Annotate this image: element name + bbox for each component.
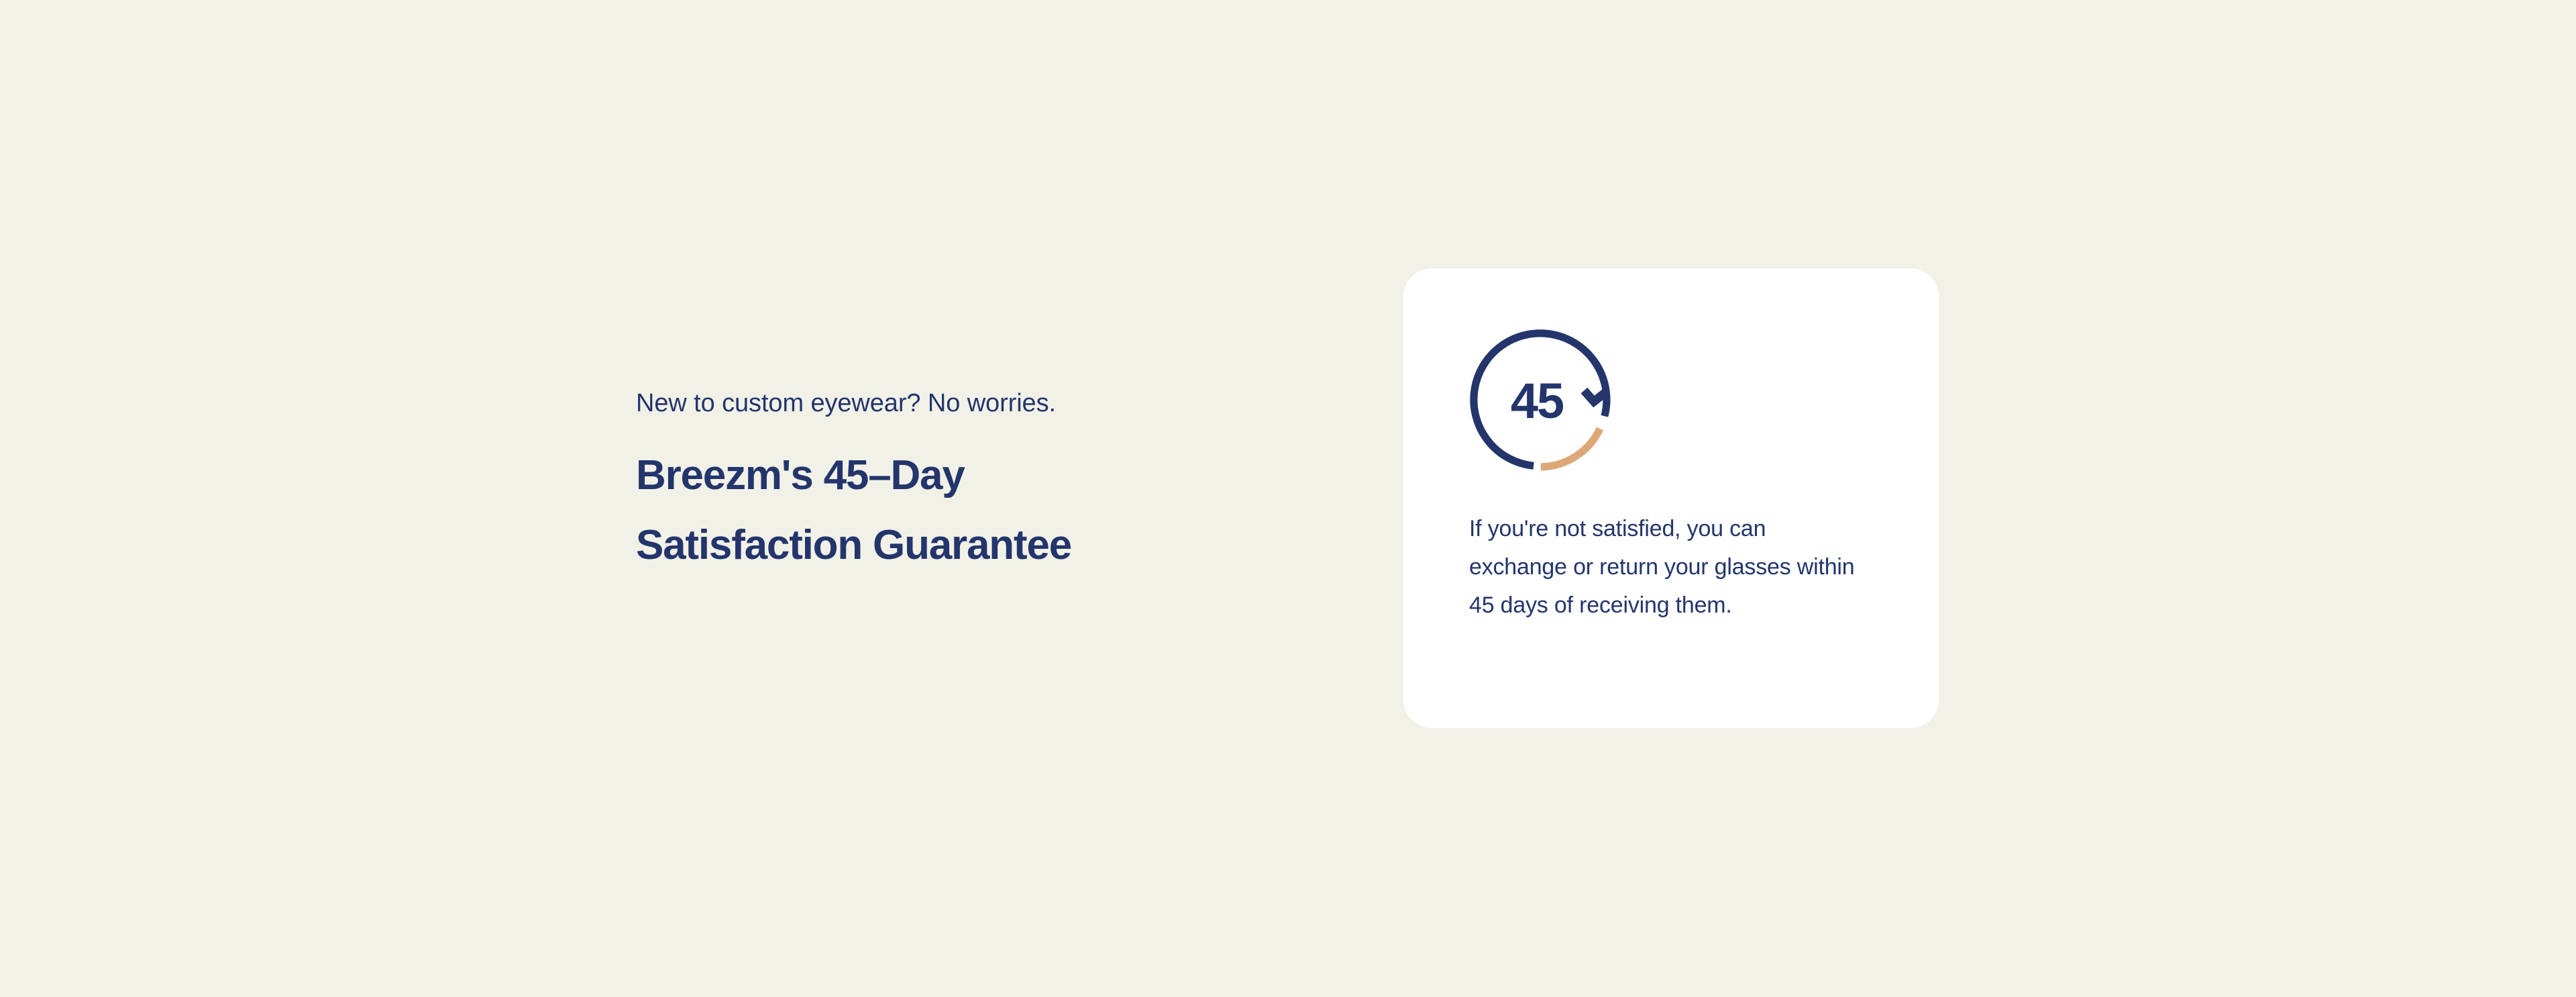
promo-banner: New to custom eyewear? No worries. Breez… — [0, 0, 2576, 997]
badge-number: 45 — [1511, 373, 1564, 429]
45-day-return-cycle-icon: 45 — [1467, 323, 1621, 478]
promo-eyebrow: New to custom eyewear? No worries. — [636, 386, 1307, 421]
page-title: Breezm's 45–Day Satisfaction Guarantee — [636, 441, 1307, 580]
guarantee-description: If you're not satisfied, you can exchang… — [1469, 510, 1858, 625]
guarantee-card: 45 If you're not satisfied, you can exch… — [1403, 268, 1939, 728]
page-title-line-2: Satisfaction Guarantee — [636, 511, 1307, 580]
page-title-line-1: Breezm's 45–Day — [636, 441, 1307, 511]
45-day-return-cycle-svg: 45 — [1467, 323, 1621, 478]
promo-copy-block: New to custom eyewear? No worries. Breez… — [636, 386, 1307, 580]
arrow-head-icon — [1585, 390, 1605, 402]
arc-tan — [1541, 429, 1600, 467]
